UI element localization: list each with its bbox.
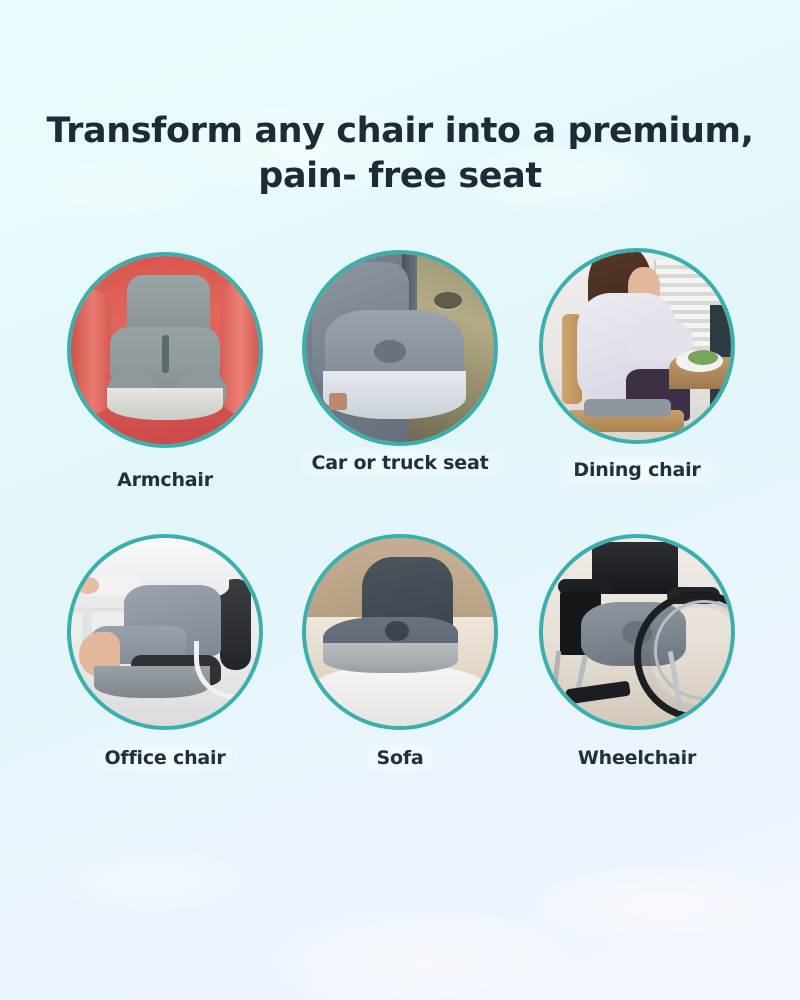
use-case-label-dining-chair: Dining chair <box>561 456 712 484</box>
page-title: Transform any chair into a premium, pain… <box>0 109 800 199</box>
wheelchair-circle-frame[interactable] <box>539 534 735 730</box>
armchair-photo <box>71 256 259 444</box>
use-case-item-armchair[interactable]: Armchair <box>47 252 283 494</box>
use-case-item-dining-chair[interactable]: Dining chair <box>519 252 755 484</box>
use-case-item-office-chair[interactable]: Office chair <box>47 534 283 772</box>
use-case-label-office-chair: Office chair <box>92 744 237 772</box>
promo-page: Transform any chair into a premium, pain… <box>0 0 800 1000</box>
use-case-label-armchair: Armchair <box>105 466 225 494</box>
wheelchair-photo <box>543 538 731 726</box>
dining-chair-circle-frame[interactable] <box>539 248 735 444</box>
use-case-label-car-truck-seat: Car or truck seat <box>300 449 501 477</box>
use-case-row-2: Office chair Sofa <box>0 534 800 816</box>
use-case-item-car-truck-seat[interactable]: Car or truck seat <box>282 252 518 477</box>
car-truck-seat-photo <box>306 254 494 442</box>
use-case-label-wheelchair: Wheelchair <box>566 744 708 772</box>
sofa-circle-frame[interactable] <box>302 534 498 730</box>
sofa-photo <box>306 538 494 726</box>
use-case-grid: Armchair Car or truck seat <box>0 252 800 816</box>
use-case-row-1: Armchair Car or truck seat <box>0 252 800 534</box>
use-case-item-sofa[interactable]: Sofa <box>282 534 518 772</box>
use-case-label-sofa: Sofa <box>364 744 435 772</box>
headline-line-2: free seat <box>368 156 541 196</box>
office-chair-photo <box>71 538 259 726</box>
use-case-item-wheelchair[interactable]: Wheelchair <box>519 534 755 772</box>
office-chair-circle-frame[interactable] <box>67 534 263 730</box>
dining-chair-photo <box>543 252 731 440</box>
armchair-circle-frame[interactable] <box>67 252 263 448</box>
car-truck-seat-circle-frame[interactable] <box>302 250 498 446</box>
